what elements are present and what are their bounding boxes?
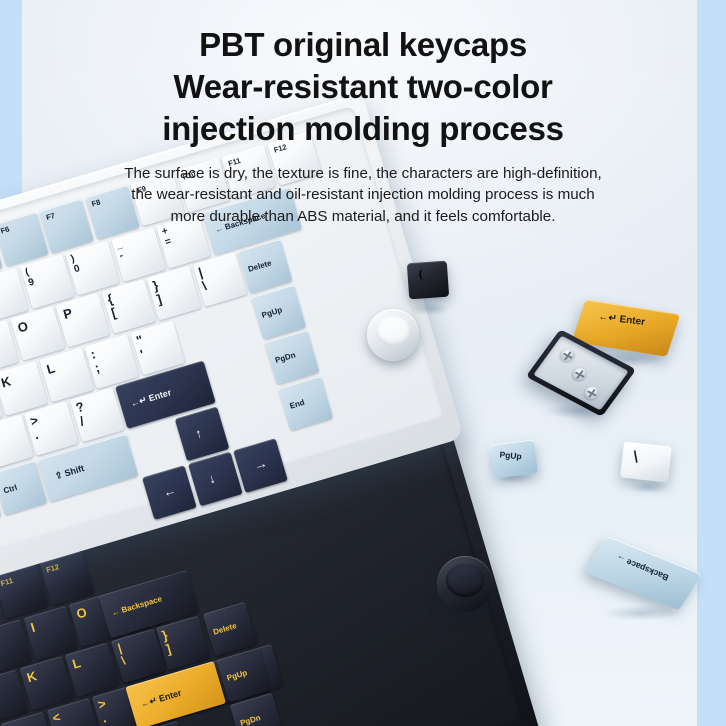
body-copy: The surface is dry, the texture is fine,… — [0, 163, 726, 228]
loose-keycap-dark-bracket[interactable]: { — [407, 261, 449, 300]
keycap-legend: ← Backspace — [111, 595, 163, 617]
keycap-legend-secondary: \ — [120, 654, 127, 666]
keycap-legend-primary: } — [160, 628, 169, 642]
headline-line-3: injection molding process — [0, 108, 726, 150]
keycap-legend: Delete — [247, 259, 272, 273]
keycap-legend: Ctrl — [3, 483, 18, 495]
keycap-legend-primary: _ — [115, 240, 123, 251]
product-marketing-image: F5F6F7F8F9F10F11F12^6&7*8(9)0_-+=YUIOP{[… — [0, 0, 726, 726]
loose-keycap-white-pipe[interactable]: | — [620, 442, 672, 483]
white-keyboard-rotary-knob[interactable] — [367, 309, 419, 361]
keycap-legend-secondary: . — [33, 428, 40, 441]
keycap-legend-primary: | — [116, 642, 123, 654]
keycap-legend: PgDn — [274, 351, 296, 365]
keycap-surface — [407, 261, 449, 300]
keycap-legend: K — [25, 669, 38, 684]
keycap-legend: O — [16, 319, 29, 334]
keycap-legend-primary: > — [29, 413, 40, 428]
body-copy-line-2: the wear-resistant and oil-resistant inj… — [0, 184, 726, 206]
keycap-legend-primary: ( — [24, 267, 30, 278]
keycap-legend: F11 — [0, 577, 14, 588]
keycap-legend-primary: + — [161, 226, 169, 237]
keycap-legend-primary: | — [197, 265, 204, 278]
keycap-legend-secondary: ] — [155, 292, 163, 306]
keycap-legend: ←↵ Enter — [130, 388, 173, 409]
keycap-legend: PgUp — [226, 669, 248, 683]
keycap-legend: ↑ — [193, 426, 203, 440]
keycap-legend: → — [252, 456, 268, 472]
keycap-legend-primary: < — [51, 710, 62, 725]
black-keyboard-rotary-knob[interactable] — [437, 556, 493, 612]
keycap-legend-secondary: ; — [93, 360, 101, 374]
keycap-legend: PgUp — [261, 306, 283, 320]
keycap-legend: PgUp — [499, 450, 522, 460]
headline-line-2: Wear-resistant two-color — [0, 66, 726, 108]
keycap-legend: K — [0, 374, 12, 389]
keycap-surface — [620, 442, 672, 483]
keycap-stem-icon — [558, 347, 577, 364]
keycap-legend-secondary: ] — [164, 642, 172, 656]
keycap-legend-primary: > — [96, 696, 107, 711]
loose-keycap-blue-pgup[interactable]: PgUp — [490, 439, 538, 478]
keycap-legend-secondary: 9 — [27, 277, 35, 288]
keycap-legend: ↓ — [207, 471, 217, 485]
keycap-shadow — [404, 300, 456, 318]
keycap-legend-primary: " — [135, 333, 145, 347]
body-copy-line-3: more durable than ABS material, and it f… — [0, 206, 726, 228]
keycap-legend-primary: : — [89, 347, 97, 361]
keycap-legend-secondary: 0 — [73, 264, 81, 275]
keycap-legend: O — [75, 605, 88, 620]
keycap-legend-secondary: ' — [139, 347, 146, 360]
keycap-legend: ←↵ Enter — [140, 688, 183, 709]
keycap-legend: Delete — [212, 622, 237, 636]
keycap-legend: P — [62, 306, 74, 321]
keycap-stem-icon — [582, 384, 601, 401]
keycap-legend-primary: } — [151, 279, 160, 293]
keycap-legend: ⇧ Shift — [54, 464, 85, 481]
body-copy-line-1: The surface is dry, the texture is fine,… — [0, 163, 726, 185]
keycap-legend-secondary: / — [78, 414, 85, 427]
keycap-legend-primary: ) — [70, 254, 76, 265]
keycap-legend-secondary: = — [164, 237, 172, 248]
headline-line-1: PBT original keycaps — [0, 24, 726, 66]
keycap-legend: PgDn — [239, 714, 261, 726]
keycap-legend: { — [418, 270, 423, 280]
keycap-legend: L — [45, 361, 56, 376]
keycap-legend: ← — [161, 483, 177, 499]
keycap-legend: F12 — [45, 563, 60, 574]
keycap-legend-secondary: [ — [110, 306, 118, 320]
keycap-legend: L — [71, 656, 82, 671]
keycap-legend-primary: { — [106, 292, 115, 306]
keycap-stem-icon — [570, 366, 589, 383]
keycap-legend: I — [29, 620, 36, 633]
keycap-legend-primary: ? — [74, 400, 85, 415]
marketing-copy: PBT original keycaps Wear-resistant two-… — [0, 24, 726, 227]
keycap-legend-secondary: - — [118, 251, 124, 262]
headline: PBT original keycaps Wear-resistant two-… — [0, 24, 726, 151]
keycap-legend-secondary: . — [100, 711, 107, 724]
keycap-legend-secondary: \ — [201, 279, 208, 292]
keycap-legend: End — [289, 398, 306, 410]
